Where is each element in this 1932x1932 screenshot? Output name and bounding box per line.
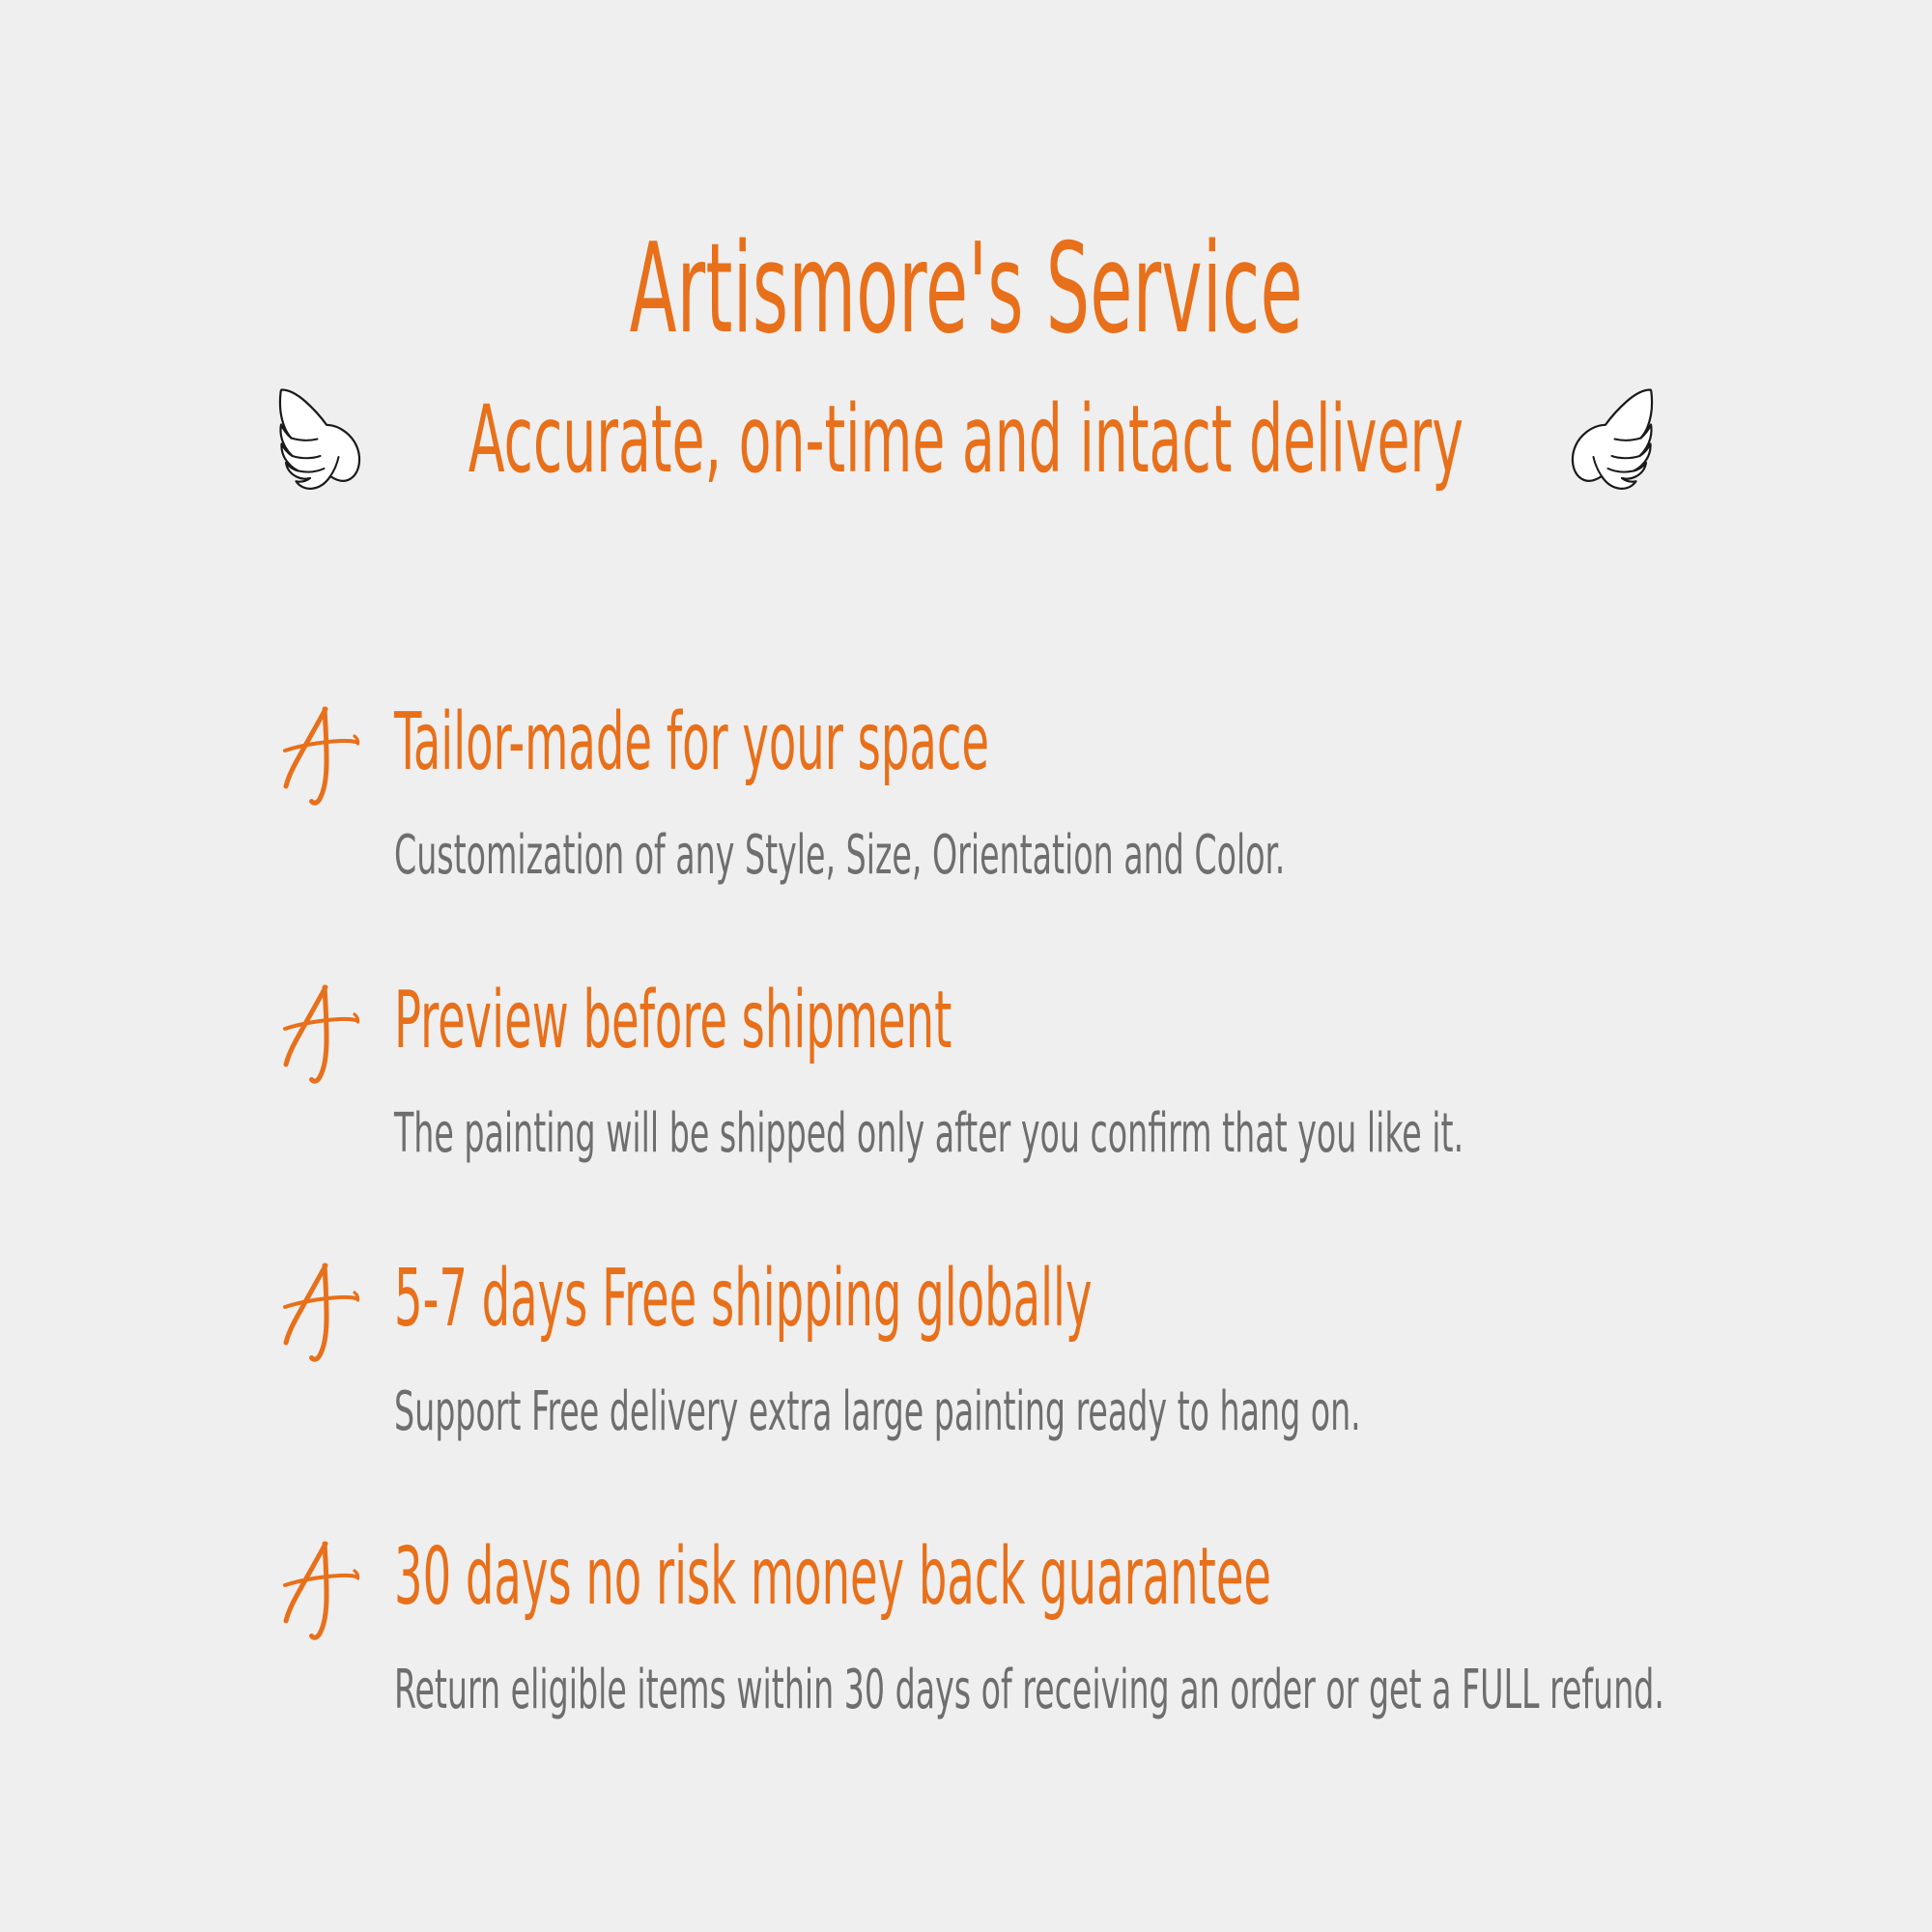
feature-item: 30 days no risk money back guarantee Ret… bbox=[280, 1538, 1884, 1718]
feature-item: 5-7 days Free shipping globally Support … bbox=[280, 1260, 1884, 1538]
calligraphic-a-icon bbox=[280, 1540, 365, 1642]
feature-description: The painting will be shipped only after … bbox=[394, 1107, 1378, 1161]
feature-description: Support Free delivery extra large painti… bbox=[394, 1385, 1378, 1439]
feature-title: Preview before shipment bbox=[394, 981, 1332, 1061]
page-title: Artismore's Service bbox=[629, 228, 1302, 352]
subtitle-row: Accurate, on-time and intact delivery bbox=[0, 384, 1932, 496]
calligraphic-a-icon bbox=[280, 983, 365, 1086]
feature-item: Preview before shipment The painting wil… bbox=[280, 981, 1884, 1260]
angel-wing-icon bbox=[1555, 384, 1671, 496]
page-subtitle: Accurate, on-time and intact delivery bbox=[469, 391, 1463, 489]
angel-wing-icon bbox=[261, 384, 377, 496]
calligraphic-a-icon bbox=[280, 1262, 365, 1364]
feature-description: Return eligible items within 30 days of … bbox=[394, 1663, 1378, 1718]
feature-item: Tailor-made for your space Customization… bbox=[280, 703, 1884, 981]
feature-body: 5-7 days Free shipping globally Support … bbox=[394, 1260, 1884, 1439]
feature-body: Preview before shipment The painting wil… bbox=[394, 981, 1884, 1161]
feature-title: 30 days no risk money back guarantee bbox=[394, 1538, 1332, 1617]
feature-body: Tailor-made for your space Customization… bbox=[394, 703, 1884, 883]
feature-title: Tailor-made for your space bbox=[394, 703, 1332, 782]
feature-list: Tailor-made for your space Customization… bbox=[280, 703, 1884, 1718]
service-promo-page: Artismore's Service Accurate, on-time an… bbox=[0, 0, 1932, 1932]
feature-description: Customization of any Style, Size, Orient… bbox=[394, 829, 1378, 883]
feature-title: 5-7 days Free shipping globally bbox=[394, 1260, 1332, 1339]
feature-body: 30 days no risk money back guarantee Ret… bbox=[394, 1538, 1884, 1718]
calligraphic-a-icon bbox=[280, 705, 365, 808]
